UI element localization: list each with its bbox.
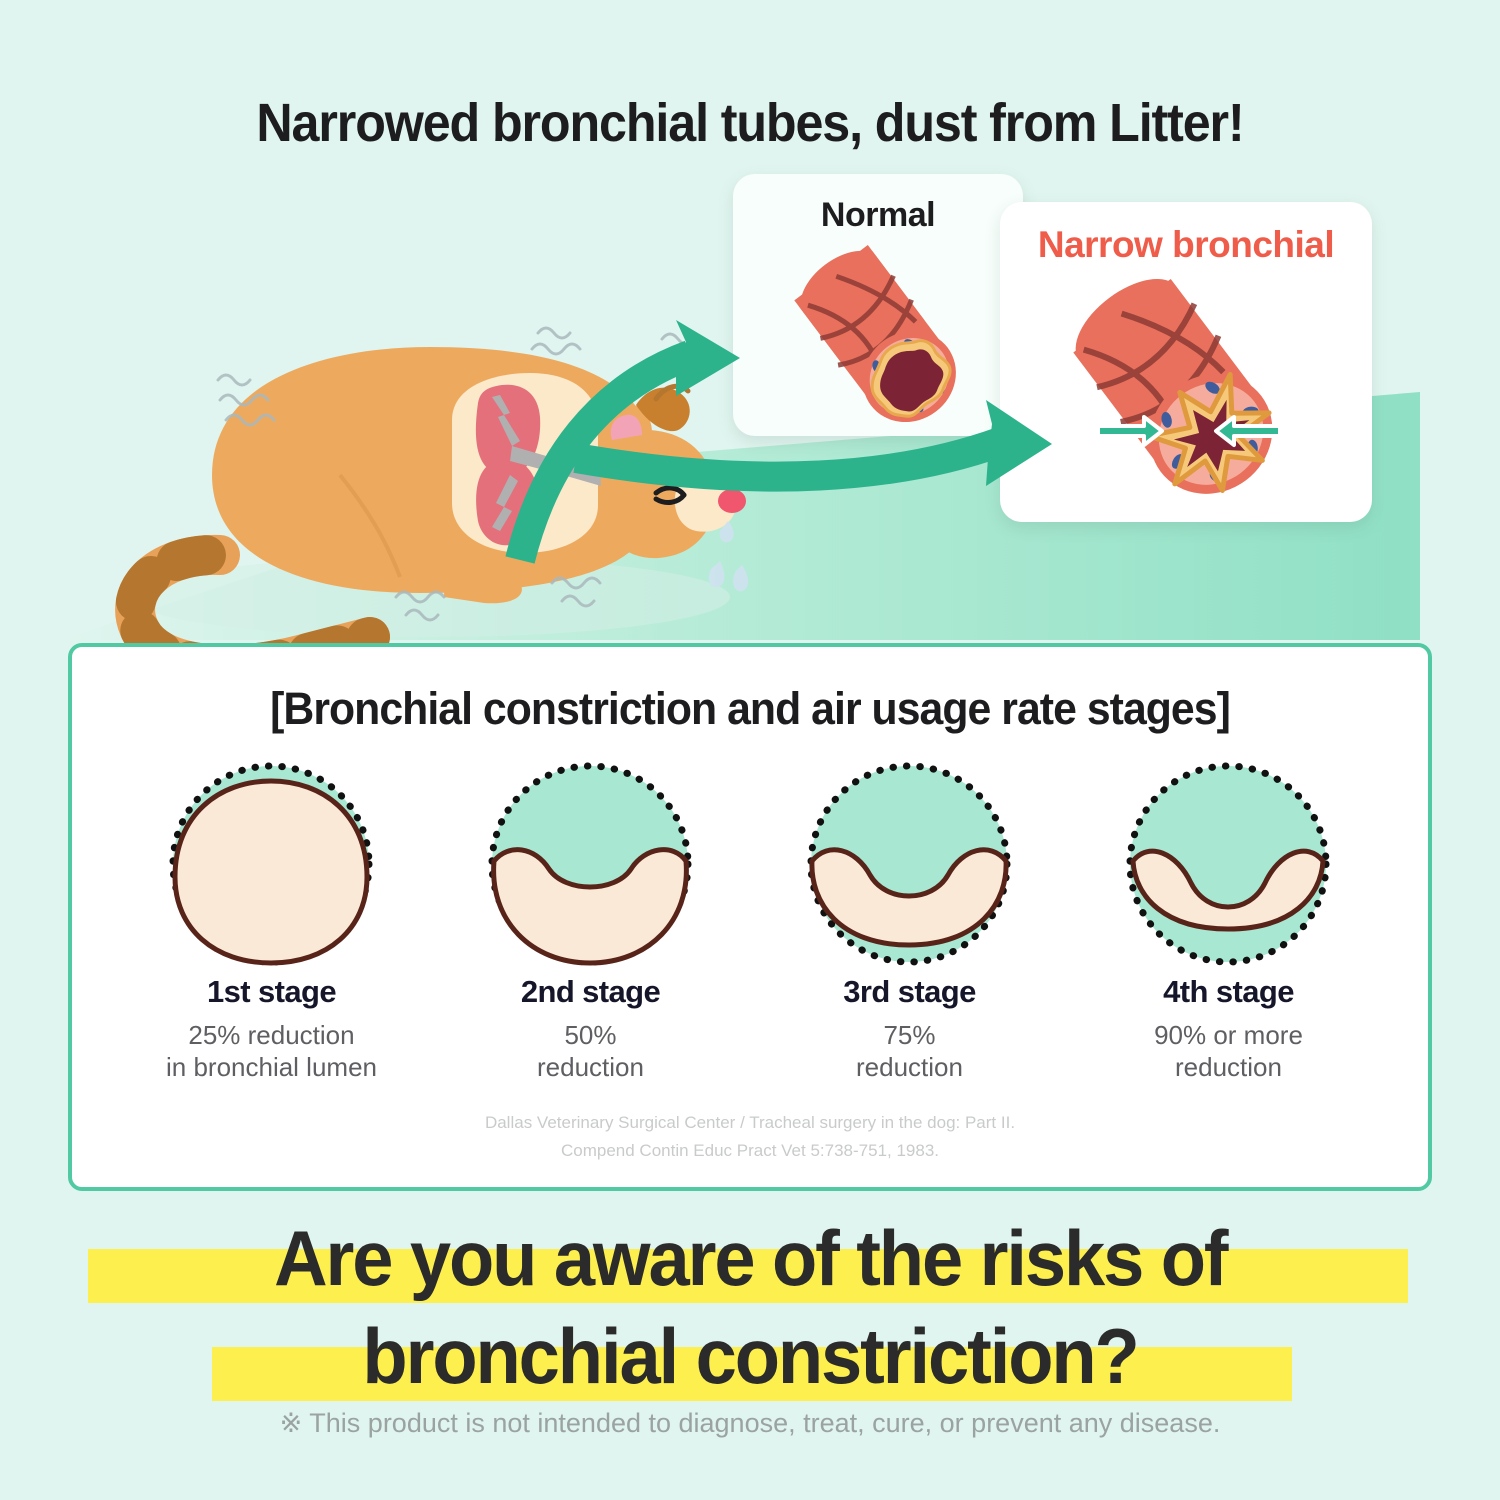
stage-item: 1st stage 25% reduction in bronchial lum… — [122, 757, 422, 1083]
narrow-card-label: Narrow bronchial — [1000, 224, 1372, 266]
stage-name: 3rd stage — [760, 974, 1060, 1010]
stage-3-diagram — [760, 757, 1060, 972]
stage-desc: 50% reduction — [441, 1020, 741, 1083]
illustration-area: Normal — [0, 160, 1500, 640]
headline-line-2: bronchial constriction? — [0, 1311, 1500, 1409]
stage-desc: 25% reduction in bronchial lumen — [122, 1020, 422, 1083]
headline-line-1: Are you aware of the risks of — [0, 1213, 1500, 1311]
page-title: Narrowed bronchial tubes, dust from Litt… — [53, 92, 1448, 154]
stage-item: 2nd stage 50% reduction — [441, 757, 741, 1083]
bottom-headline: Are you aware of the risks of bronchial … — [0, 1213, 1500, 1409]
stage-desc: 90% or more reduction — [1079, 1020, 1379, 1083]
stage-1-diagram — [122, 757, 422, 972]
stage-name: 1st stage — [122, 974, 422, 1010]
citation: Dallas Veterinary Surgical Center / Trac… — [72, 1109, 1428, 1165]
stage-name: 2nd stage — [441, 974, 741, 1010]
stages-panel: [Bronchial constriction and air usage ra… — [68, 643, 1432, 1191]
headline-text: bronchial constriction? — [362, 1311, 1137, 1402]
headline-text: Are you aware of the risks of — [274, 1213, 1226, 1304]
bronchial-tube-normal-icon — [771, 242, 1001, 427]
bronchial-tube-narrow-icon — [1036, 274, 1346, 514]
stage-item: 4th stage 90% or more reduction — [1079, 757, 1379, 1083]
disclaimer-text: ※ This product is not intended to diagno… — [0, 1408, 1500, 1439]
normal-bronchial-card: Normal — [733, 174, 1023, 436]
panel-title: [Bronchial constriction and air usage ra… — [106, 683, 1394, 735]
stages-row: 1st stage 25% reduction in bronchial lum… — [112, 757, 1388, 1083]
infographic-root: Narrowed bronchial tubes, dust from Litt… — [0, 0, 1500, 1500]
stage-name: 4th stage — [1079, 974, 1379, 1010]
stage-4-diagram — [1079, 757, 1379, 972]
normal-card-label: Normal — [733, 196, 1023, 235]
narrow-bronchial-card: Narrow bronchial — [1000, 202, 1372, 522]
citation-line-2: Compend Contin Educ Pract Vet 5:738-751,… — [72, 1137, 1428, 1165]
citation-line-1: Dallas Veterinary Surgical Center / Trac… — [72, 1109, 1428, 1137]
stage-item: 3rd stage 75% reduction — [760, 757, 1060, 1083]
stage-2-diagram — [441, 757, 741, 972]
stage-desc: 75% reduction — [760, 1020, 1060, 1083]
coughing-cat-icon — [100, 325, 800, 655]
